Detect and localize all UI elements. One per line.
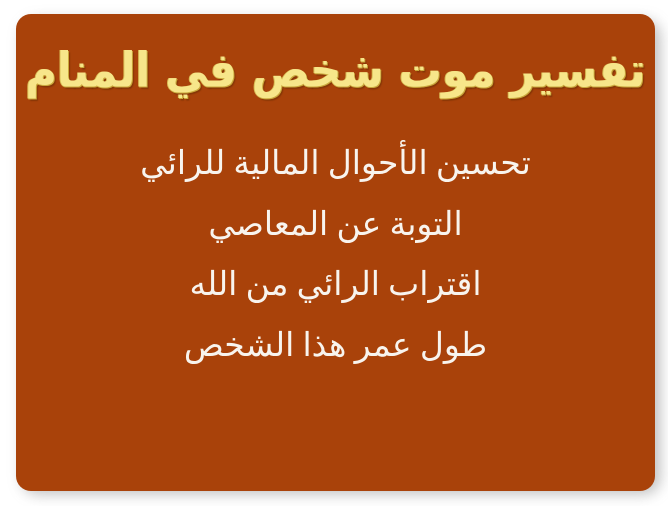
body-line-1: تحسين الأحوال المالية للرائي (140, 140, 531, 190)
page-title: تفسير موت شخص في المنام (25, 47, 645, 95)
body-line-4: طول عمر هذا الشخص (184, 322, 487, 372)
title-area: تفسير موت شخص في المنام (16, 28, 655, 114)
body-line-2: التوبة عن المعاصي (208, 201, 462, 251)
body-line-3: اقتراب الرائي من الله (189, 261, 481, 311)
content-card: تفسير موت شخص في المنام تحسين الأحوال ال… (16, 14, 655, 491)
body-text-list: تحسين الأحوال المالية للرائي التوبة عن ا… (16, 140, 655, 371)
image-canvas: تفسير موت شخص في المنام تحسين الأحوال ال… (0, 0, 668, 506)
